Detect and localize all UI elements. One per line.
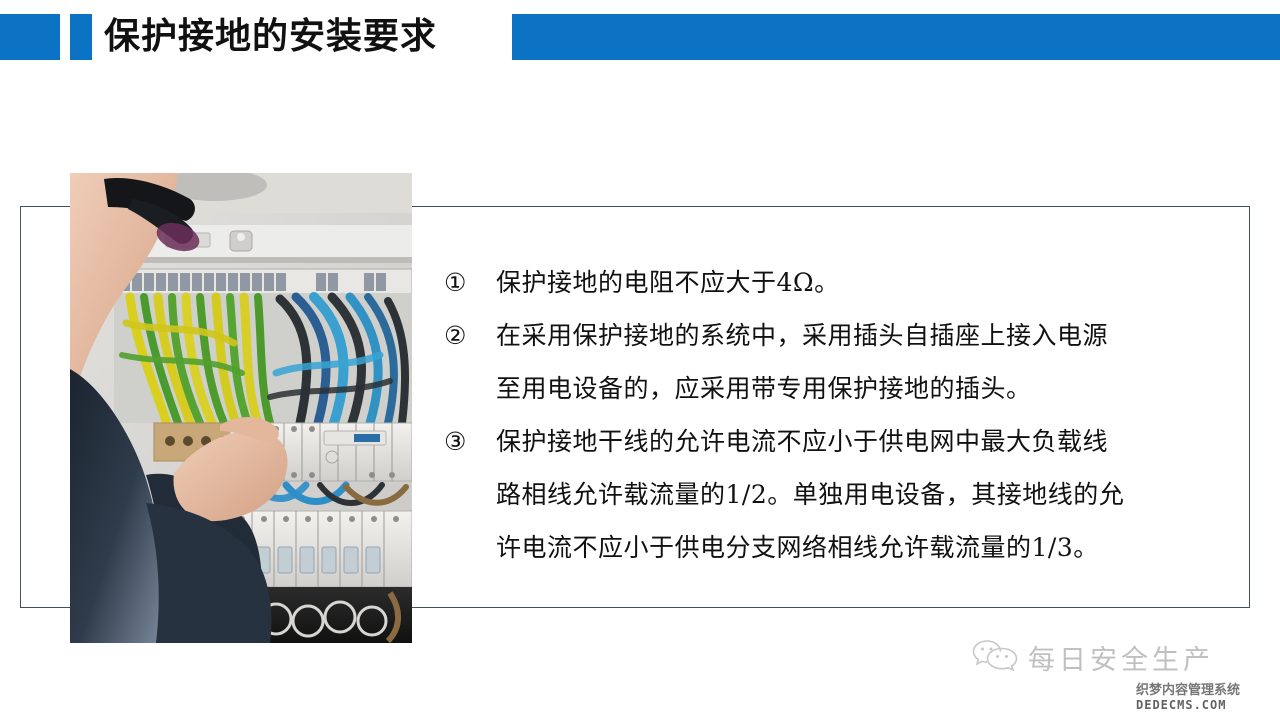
list-item-body: 保护接地的电阻不应大于4Ω。 xyxy=(496,256,1244,309)
list-line: 保护接地干线的允许电流不应小于供电网中最大负载线 xyxy=(496,415,1244,468)
list-item: ② 在采用保护接地的系统中，采用插头自插座上接入电源 至用电设备的，应采用带专用… xyxy=(444,309,1244,415)
header-accent-bar-right xyxy=(512,14,1280,60)
list-line: 在采用保护接地的系统中，采用插头自插座上接入电源 xyxy=(496,309,1244,362)
list-item-body: 保护接地干线的允许电流不应小于供电网中最大负载线 路相线允许载流量的1/2。单独… xyxy=(496,415,1244,574)
wechat-icon xyxy=(972,638,1018,677)
header-accent-block-left xyxy=(0,14,60,60)
list-line: 至用电设备的，应采用带专用保护接地的插头。 xyxy=(496,362,1244,415)
list-marker: ① xyxy=(444,256,496,309)
list-marker: ② xyxy=(444,309,496,362)
header-band: 保护接地的安装要求 xyxy=(0,14,1280,60)
dedecms-watermark: 织梦内容管理系统 DEDECMS.COM xyxy=(1136,684,1276,712)
header-accent-block-inner xyxy=(70,14,92,60)
list-item-body: 在采用保护接地的系统中，采用插头自插座上接入电源 至用电设备的，应采用带专用保护… xyxy=(496,309,1244,415)
dedecms-watermark-en: DEDECMS.COM xyxy=(1136,698,1276,712)
list-item: ③ 保护接地干线的允许电流不应小于供电网中最大负载线 路相线允许载流量的1/2。… xyxy=(444,415,1244,574)
page-title: 保护接地的安装要求 xyxy=(104,14,437,60)
wechat-account-name: 每日安全生产 xyxy=(1028,638,1214,677)
photo-illustration xyxy=(70,173,412,643)
dedecms-watermark-cn: 织梦内容管理系统 xyxy=(1136,684,1276,698)
list-marker: ③ xyxy=(444,415,496,468)
requirements-list: ① 保护接地的电阻不应大于4Ω。 ② 在采用保护接地的系统中，采用插头自插座上接… xyxy=(444,256,1244,574)
list-line: 路相线允许载流量的1/2。单独用电设备，其接地线的允 xyxy=(496,468,1244,521)
electrical-panel-photo xyxy=(70,173,412,643)
list-line: 许电流不应小于供电分支网络相线允许载流量的1/3。 xyxy=(496,521,1244,574)
list-item: ① 保护接地的电阻不应大于4Ω。 xyxy=(444,256,1244,309)
list-line: 保护接地的电阻不应大于4Ω。 xyxy=(496,256,1244,309)
wechat-account-mark: 每日安全生产 xyxy=(972,634,1212,680)
